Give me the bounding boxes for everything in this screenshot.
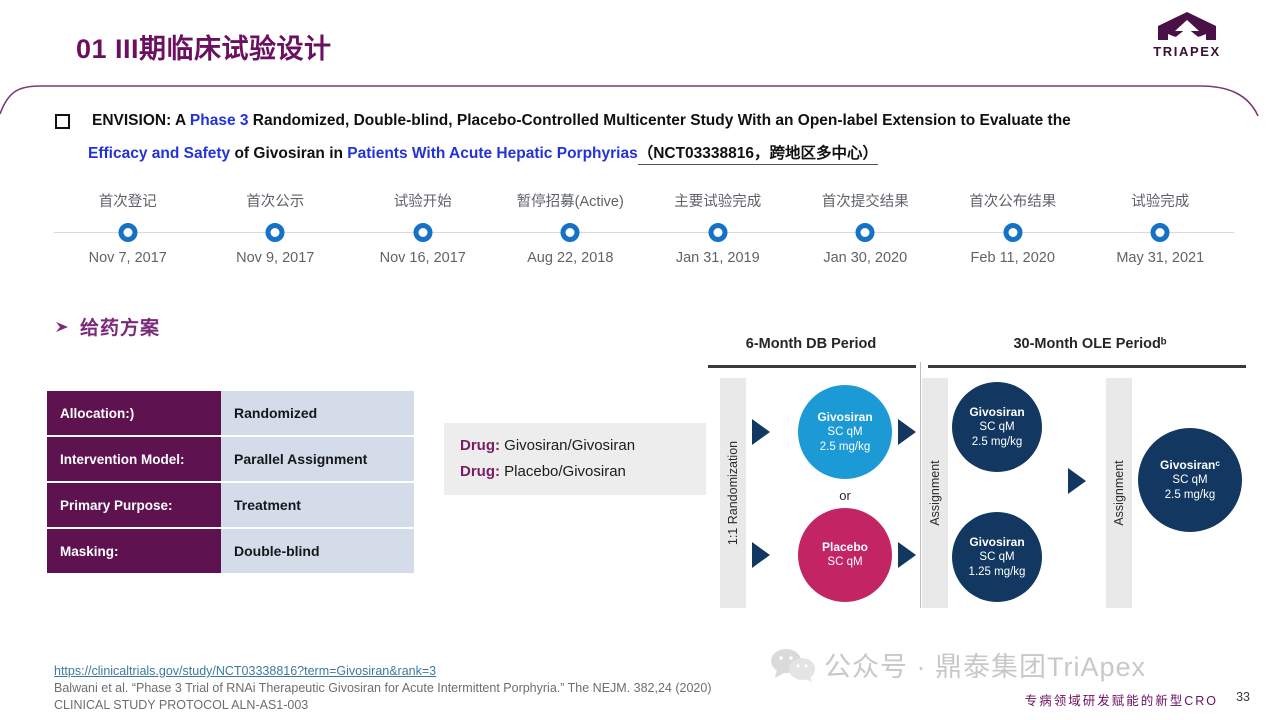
arrow-icon (752, 542, 770, 568)
drug-arms-box: Drug: Givosiran/Givosiran Drug: Placebo/… (444, 423, 706, 495)
arrow-icon (898, 419, 916, 445)
node-dose: 2.5 mg/kg (972, 435, 1023, 450)
node-title: Givosiranᶜ (1160, 458, 1220, 473)
table-cell-key: Primary Purpose: (47, 483, 221, 527)
timeline-dot-icon (118, 223, 137, 242)
node-title: Givosiran (817, 410, 872, 425)
timeline-label: 首次登记 (99, 190, 157, 211)
references-block: https://clinicaltrials.gov/study/NCT0333… (54, 663, 711, 714)
table-row: Masking: Double-blind (47, 529, 414, 573)
node-dose: 2.5 mg/kg (1165, 488, 1216, 503)
table-cell-value: Treatment (221, 483, 414, 527)
timeline-date: Aug 22, 2018 (527, 250, 613, 266)
reference-line-3: CLINICAL STUDY PROTOCOL ALN-AS1-003 (54, 697, 711, 714)
envision-paragraph: ENVISION: A Phase 3 Randomized, Double-b… (55, 104, 1250, 170)
brand-logo: TRIAPEX (1132, 10, 1242, 68)
envision-line-1-text: ENVISION: A Phase 3 Randomized, Double-b… (92, 104, 1071, 137)
slide-root: 01 III期临床试验设计 TRIAPEX ENVISION: A Phase … (0, 0, 1280, 720)
node-placebo-db: Placebo SC qM (798, 508, 892, 602)
timeline-dot-icon (708, 223, 727, 242)
drug-label: Drug: (460, 437, 500, 454)
or-label: or (798, 488, 892, 503)
timeline-dot-icon (1151, 223, 1170, 242)
diagram-header-db: 6-Month DB Period (706, 336, 916, 352)
timeline-dot-icon (1003, 223, 1022, 242)
section-heading: 给药方案 (55, 313, 160, 340)
timeline-item-1[interactable]: 首次公示 Nov 9, 2017 (202, 190, 350, 280)
envision-line-2: Efficacy and Safety of Givosiran in Pati… (55, 137, 1250, 170)
table-cell-value: Randomized (221, 391, 414, 435)
assignment-label: Assignment (1112, 460, 1126, 525)
timeline-label: 暂停招募(Active) (517, 190, 624, 211)
timeline-item-3[interactable]: 暂停招募(Active) Aug 22, 2018 (497, 190, 645, 280)
page-number: 33 (1236, 690, 1250, 704)
timeline-item-7[interactable]: 试验完成 May 31, 2021 (1087, 190, 1235, 280)
arrow-icon (752, 419, 770, 445)
timeline-items: 首次登记 Nov 7, 2017 首次公示 Nov 9, 2017 试验开始 N… (54, 190, 1234, 280)
node-title: Givosiran (969, 405, 1024, 420)
timeline-label: 主要试验完成 (674, 190, 761, 211)
watermark-text: 公众号 · 鼎泰集团TriApex (824, 645, 1146, 684)
timeline-label: 首次公布结果 (969, 190, 1056, 211)
timeline-date: Feb 11, 2020 (971, 250, 1055, 266)
table-row: Intervention Model: Parallel Assignment (47, 437, 414, 481)
arrow-icon (898, 542, 916, 568)
table-cell-value: Double-blind (221, 529, 414, 573)
timeline-item-5[interactable]: 首次提交结果 Jan 30, 2020 (792, 190, 940, 280)
drug-value: Givosiran/Givosiran (500, 437, 635, 454)
study-design-diagram: 6-Month DB Period 30-Month OLE Periodᵇ 1… (706, 336, 1246, 621)
node-givosiran-ole-high: Givosiran SC qM 2.5 mg/kg (952, 382, 1042, 472)
node-route: SC qM (827, 555, 862, 570)
timeline-date: Nov 7, 2017 (89, 250, 167, 266)
node-title: Placebo (822, 540, 868, 555)
timeline-date: Jan 31, 2019 (676, 250, 760, 266)
node-givosiran-db: Givosiran SC qM 2.5 mg/kg (798, 385, 892, 479)
node-dose: 2.5 mg/kg (820, 440, 871, 455)
envision-line-1: ENVISION: A Phase 3 Randomized, Double-b… (55, 104, 1250, 137)
wechat-icon (770, 648, 816, 682)
timeline-dot-icon (266, 223, 285, 242)
randomization-label: 1:1 Randomization (726, 441, 740, 545)
logo-wordmark: TRIAPEX (1132, 44, 1242, 59)
timeline-date: May 31, 2021 (1116, 250, 1204, 266)
table-cell-value: Parallel Assignment (221, 437, 414, 481)
arrow-icon (1068, 468, 1086, 494)
reference-link[interactable]: https://clinicaltrials.gov/study/NCT0333… (54, 663, 711, 680)
table-cell-key: Intervention Model: (47, 437, 221, 481)
timeline-dot-icon (561, 223, 580, 242)
timeline-item-2[interactable]: 试验开始 Nov 16, 2017 (349, 190, 497, 280)
triapex-logo-icon (1154, 10, 1220, 42)
timeline-label: 首次公示 (246, 190, 304, 211)
patients-highlight: Patients With Acute Hepatic Porphyrias (347, 145, 637, 162)
nct-id-note: （NCT03338816，跨地区多中心） (638, 145, 878, 165)
timeline-label: 试验开始 (394, 190, 452, 211)
drug-arm-2: Drug: Placebo/Givosiran (460, 459, 706, 485)
table-cell-key: Allocation:) (47, 391, 221, 435)
node-route: SC qM (1172, 473, 1207, 488)
study-timeline: 首次登记 Nov 7, 2017 首次公示 Nov 9, 2017 试验开始 N… (54, 190, 1234, 280)
square-bullet-icon (55, 114, 70, 129)
node-title: Givosiran (969, 535, 1024, 550)
timeline-dot-icon (856, 223, 875, 242)
arrow-bullet-icon (55, 320, 70, 334)
node-route: SC qM (979, 550, 1014, 565)
watermark: 公众号 · 鼎泰集团TriApex (770, 645, 1146, 684)
timeline-item-4[interactable]: 主要试验完成 Jan 31, 2019 (644, 190, 792, 280)
section-heading-label: 给药方案 (80, 313, 160, 340)
assignment-label: Assignment (928, 460, 942, 525)
timeline-date: Jan 30, 2020 (823, 250, 907, 266)
timeline-label: 首次提交结果 (822, 190, 909, 211)
diagram-header-ole: 30-Month OLE Periodᵇ (934, 336, 1246, 352)
drug-label: Drug: (460, 463, 500, 480)
diagram-period-divider (920, 362, 921, 608)
assignment-bar-1: Assignment (922, 378, 948, 608)
assignment-bar-2: Assignment (1106, 378, 1132, 608)
node-givosiran-ole-low: Givosiran SC qM 1.25 mg/kg (952, 512, 1042, 602)
table-row: Primary Purpose: Treatment (47, 483, 414, 527)
timeline-dot-icon (413, 223, 432, 242)
reference-line-2: Balwani et al. “Phase 3 Trial of RNAi Th… (54, 680, 711, 697)
diagram-rule-ole (928, 365, 1246, 368)
timeline-item-0[interactable]: 首次登记 Nov 7, 2017 (54, 190, 202, 280)
timeline-label: 试验完成 (1131, 190, 1189, 211)
node-dose: 1.25 mg/kg (969, 565, 1026, 580)
node-route: SC qM (979, 420, 1014, 435)
study-design-table: Allocation:) Randomized Intervention Mod… (47, 391, 414, 575)
page-title: 01 III期临床试验设计 (76, 27, 332, 66)
randomization-bar: 1:1 Randomization (720, 378, 746, 608)
table-row: Allocation:) Randomized (47, 391, 414, 435)
brand-tagline: 专病领域研发赋能的新型CRO (1025, 690, 1218, 709)
phase-3-highlight: Phase 3 (190, 112, 249, 129)
diagram-rule-db (708, 365, 916, 368)
timeline-item-6[interactable]: 首次公布结果 Feb 11, 2020 (939, 190, 1087, 280)
timeline-date: Nov 9, 2017 (236, 250, 314, 266)
node-givosiran-ole-final: Givosiranᶜ SC qM 2.5 mg/kg (1138, 428, 1242, 532)
drug-value: Placebo/Givosiran (500, 463, 626, 480)
timeline-date: Nov 16, 2017 (380, 250, 466, 266)
table-cell-key: Masking: (47, 529, 221, 573)
efficacy-safety-highlight: Efficacy and Safety (88, 145, 230, 162)
node-route: SC qM (827, 425, 862, 440)
drug-arm-1: Drug: Givosiran/Givosiran (460, 433, 706, 459)
